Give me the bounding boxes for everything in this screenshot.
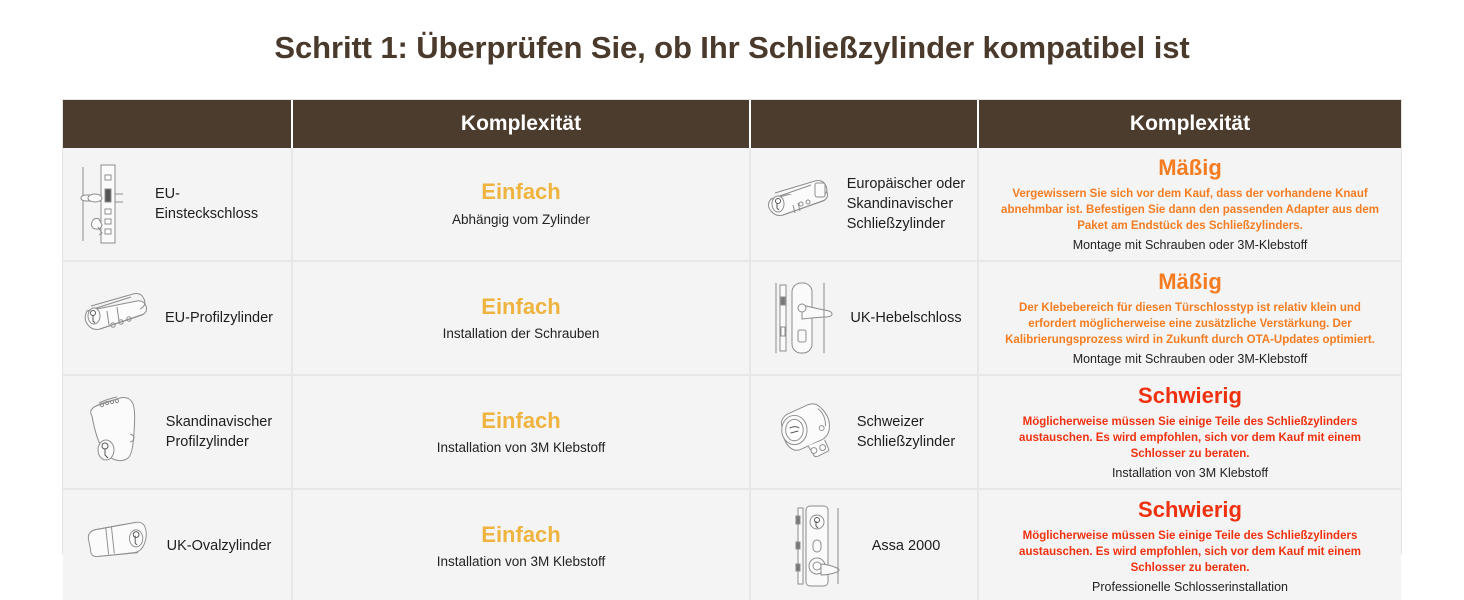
- lock-type-cell: Europäischer oder Skandinavischer Schlie…: [751, 148, 979, 260]
- header-cell-lock-type-right: [751, 100, 979, 148]
- product-entry: UK-Hebelschloss: [759, 275, 969, 361]
- complexity-detail: Installation von 3M Klebstoff: [301, 438, 741, 458]
- complexity-note: Vergewissern Sie sich vor dem Kauf, dass…: [987, 186, 1393, 235]
- lock-type-cell: Skandinavischer Profilzylinder: [63, 376, 293, 488]
- lock-type-label: UK-Hebelschloss: [850, 308, 961, 328]
- complexity-cell: Schwierig Möglicherweise müssen Sie eini…: [979, 490, 1401, 600]
- product-entry: EU-Profilzylinder: [71, 275, 283, 361]
- complexity-cell: Einfach Installation von 3M Klebstoff: [293, 490, 751, 600]
- eu-mortise-lock-icon: [71, 161, 145, 247]
- header-cell-complexity-left: Komplexität: [293, 100, 751, 148]
- table-row: Skandinavischer Profilzylinder Einfach I…: [63, 376, 1401, 490]
- complexity-verdict: Einfach: [301, 178, 741, 207]
- complexity-sub: Professionelle Schlosserinstallation: [987, 579, 1393, 597]
- complexity-content: Einfach Abhängig vom Zylinder: [301, 178, 741, 229]
- uk-lever-lock-icon: [766, 275, 840, 361]
- lock-type-cell: UK-Hebelschloss: [751, 262, 979, 374]
- product-entry: Europäischer oder Skandinavischer Schlie…: [759, 161, 969, 247]
- table-row: EU-Einsteckschloss Einfach Abhängig vom …: [63, 148, 1401, 262]
- complexity-cell: Mäßig Vergewissern Sie sich vor dem Kauf…: [979, 148, 1401, 260]
- complexity-content: Einfach Installation von 3M Klebstoff: [301, 521, 741, 572]
- complexity-verdict: Einfach: [301, 407, 741, 436]
- lock-type-label: Skandinavischer Profilzylinder: [166, 412, 272, 452]
- compatibility-page: Schritt 1: Überprüfen Sie, ob Ihr Schlie…: [0, 0, 1464, 600]
- lock-type-label: Europäischer oder Skandinavischer Schlie…: [847, 174, 966, 234]
- page-title: Schritt 1: Überprüfen Sie, ob Ihr Schlie…: [0, 30, 1464, 66]
- complexity-content: Einfach Installation von 3M Klebstoff: [301, 407, 741, 458]
- complexity-verdict: Mäßig: [987, 268, 1393, 297]
- product-entry: Schweizer Schließzylinder: [759, 389, 969, 475]
- header-cell-lock-type-left: [63, 100, 293, 148]
- product-entry: Assa 2000: [759, 503, 969, 589]
- complexity-content: Mäßig Der Klebebereich für diesen Türsch…: [987, 268, 1393, 368]
- table-row: UK-Ovalzylinder Einfach Installation von…: [63, 490, 1401, 600]
- assa-2000-lock-icon: [788, 503, 862, 589]
- eu-profile-cylinder-icon: [81, 275, 155, 361]
- complexity-cell: Einfach Abhängig vom Zylinder: [293, 148, 751, 260]
- complexity-content: Einfach Installation der Schrauben: [301, 293, 741, 344]
- scandinavian-oval-cylinder-icon: [82, 389, 156, 475]
- lock-type-label: EU-Einsteckschloss: [155, 184, 283, 224]
- complexity-sub: Montage mit Schrauben oder 3M-Klebstoff: [987, 351, 1393, 369]
- complexity-detail: Installation der Schrauben: [301, 324, 741, 344]
- complexity-content: Mäßig Vergewissern Sie sich vor dem Kauf…: [987, 154, 1393, 254]
- complexity-verdict: Schwierig: [987, 496, 1393, 525]
- complexity-content: Schwierig Möglicherweise müssen Sie eini…: [987, 382, 1393, 482]
- complexity-cell: Schwierig Möglicherweise müssen Sie eini…: [979, 376, 1401, 488]
- complexity-note: Möglicherweise müssen Sie einige Teile d…: [987, 414, 1393, 463]
- table-header-row: Komplexität Komplexität: [63, 100, 1401, 148]
- lock-type-label: EU-Profilzylinder: [165, 308, 273, 328]
- complexity-cell: Einfach Installation der Schrauben: [293, 262, 751, 374]
- complexity-cell: Mäßig Der Klebebereich für diesen Türsch…: [979, 262, 1401, 374]
- complexity-detail: Abhängig vom Zylinder: [301, 210, 741, 230]
- complexity-note: Möglicherweise müssen Sie einige Teile d…: [987, 528, 1393, 577]
- product-entry: UK-Ovalzylinder: [71, 503, 283, 589]
- header-cell-complexity-right: Komplexität: [979, 100, 1401, 148]
- lock-type-cell: Assa 2000: [751, 490, 979, 600]
- complexity-cell: Einfach Installation von 3M Klebstoff: [293, 376, 751, 488]
- lock-type-cell: EU-Einsteckschloss: [63, 148, 293, 260]
- euro-profile-cylinder-icon: [763, 161, 837, 247]
- complexity-content: Schwierig Möglicherweise müssen Sie eini…: [987, 496, 1393, 596]
- complexity-detail: Installation von 3M Klebstoff: [301, 552, 741, 572]
- lock-type-label: UK-Ovalzylinder: [167, 536, 272, 556]
- complexity-verdict: Einfach: [301, 293, 741, 322]
- complexity-verdict: Mäßig: [987, 154, 1393, 183]
- lock-type-cell: Schweizer Schließzylinder: [751, 376, 979, 488]
- complexity-sub: Montage mit Schrauben oder 3M-Klebstoff: [987, 237, 1393, 255]
- complexity-sub: Installation von 3M Klebstoff: [987, 465, 1393, 483]
- product-entry: Skandinavischer Profilzylinder: [71, 389, 283, 475]
- lock-type-cell: EU-Profilzylinder: [63, 262, 293, 374]
- lock-type-label: Schweizer Schließzylinder: [857, 412, 955, 452]
- compatibility-table: Komplexität Komplexität: [62, 99, 1402, 554]
- lock-type-label: Assa 2000: [872, 536, 941, 556]
- lock-type-cell: UK-Ovalzylinder: [63, 490, 293, 600]
- uk-oval-cylinder-icon: [83, 503, 157, 589]
- table-row: EU-Profilzylinder Einfach Installation d…: [63, 262, 1401, 376]
- complexity-note: Der Klebebereich für diesen Türschlossty…: [987, 300, 1393, 349]
- complexity-verdict: Schwierig: [987, 382, 1393, 411]
- swiss-round-cylinder-icon: [773, 389, 847, 475]
- product-entry: EU-Einsteckschloss: [71, 161, 283, 247]
- complexity-verdict: Einfach: [301, 521, 741, 550]
